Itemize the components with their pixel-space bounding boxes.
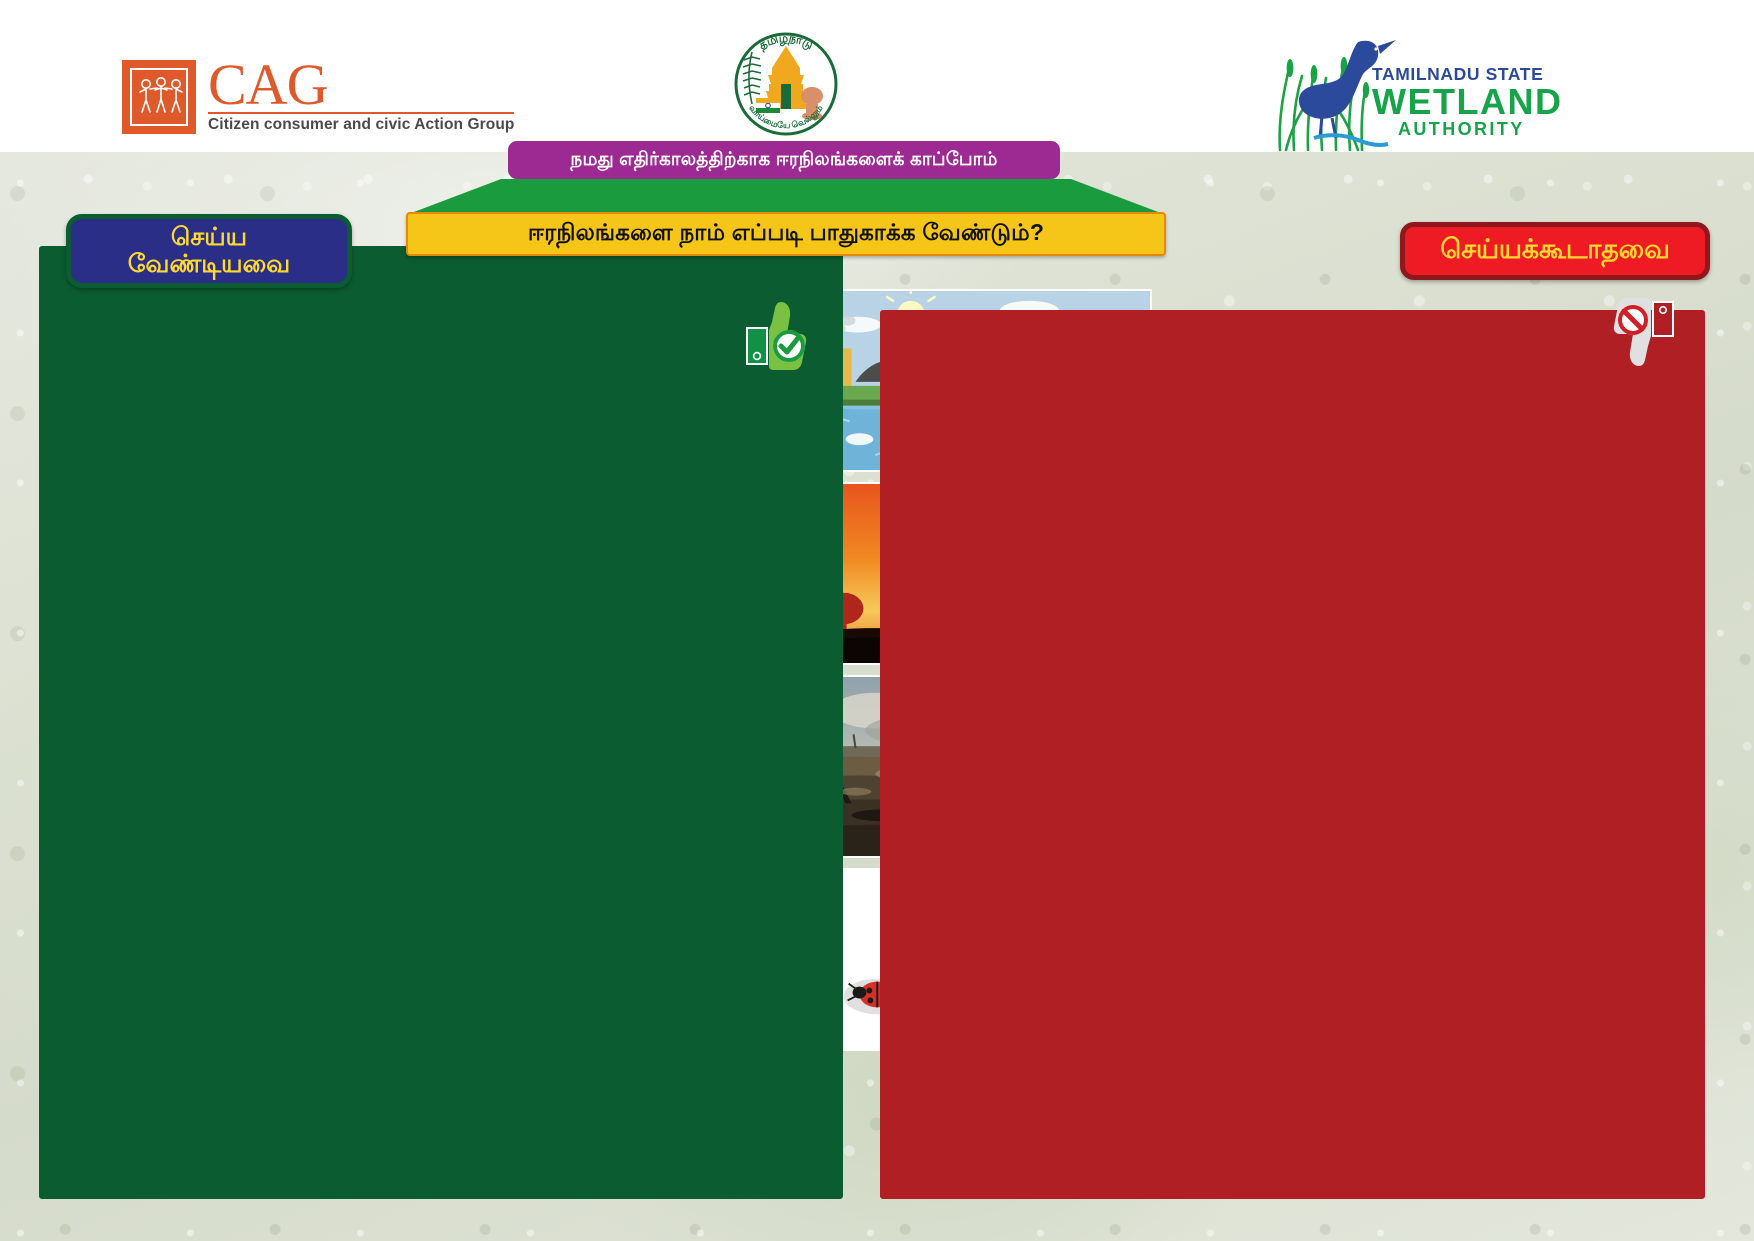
- cag-logo: CAG Citizen consumer and civic Action Gr…: [122, 58, 514, 134]
- do-badge-line1: செய்ய: [171, 224, 247, 251]
- tagline-text: நமது எதிர்காலத்திற்காக ஈரநிலங்களைக் காப்…: [570, 148, 997, 172]
- wetland-authority-line2: WETLAND: [1372, 84, 1562, 121]
- tamil-nadu-emblem-icon: தமிழ்நாடு வாய்மையே வெல்லும்: [722, 24, 850, 148]
- thumbs-down-icon: [1613, 298, 1675, 368]
- dont-column-panel: [880, 310, 1705, 1199]
- thumbs-up-icon: [745, 300, 807, 372]
- poster-root: CAG Citizen consumer and civic Action Gr…: [0, 0, 1754, 1241]
- cag-mark-icon: [122, 60, 196, 134]
- green-trapezoid-decoration: [406, 179, 1166, 215]
- do-badge: செய்ய வேண்டியவை: [66, 214, 352, 288]
- do-column-panel: [39, 246, 843, 1199]
- dont-badge-text: செய்யக்கூடாதவை: [1440, 234, 1670, 269]
- do-badge-line2: வேண்டியவை: [128, 251, 290, 278]
- cag-acronym: CAG: [208, 58, 514, 111]
- wetland-authority-line3: AUTHORITY: [1398, 120, 1562, 138]
- tagline-banner: நமது எதிர்காலத்திற்காக ஈரநிலங்களைக் காப்…: [508, 141, 1060, 179]
- main-title-banner: ஈரநிலங்களை நாம் எப்படி பாதுகாக்க வேண்டும…: [406, 212, 1166, 256]
- cag-tagline: Citizen consumer and civic Action Group: [208, 112, 514, 134]
- dont-badge: செய்யக்கூடாதவை: [1400, 222, 1710, 280]
- main-title-text: ஈரநிலங்களை நாம் எப்படி பாதுகாக்க வேண்டும…: [528, 219, 1044, 249]
